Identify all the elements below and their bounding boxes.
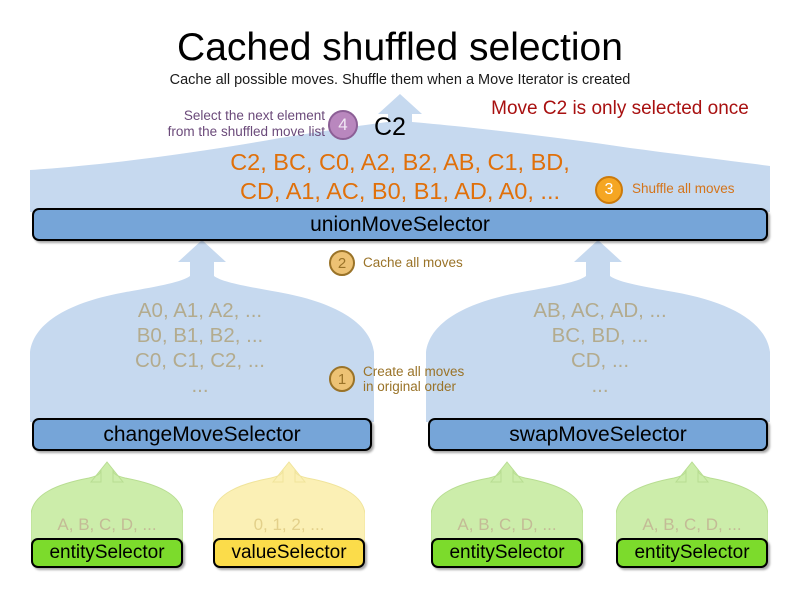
- node-entity-selector-1[interactable]: entitySelector: [31, 538, 183, 568]
- change-move-line: ...: [40, 373, 360, 398]
- step-badge-2: 2: [329, 250, 355, 276]
- step-1-label-line-2: in original order: [363, 379, 464, 394]
- step-badge-3: 3: [595, 176, 623, 204]
- selected-move-label: C2: [374, 113, 406, 142]
- diagram-canvas: Cached shuffled selection Cache all poss…: [0, 0, 800, 600]
- change-move-line: B0, B1, B2, ...: [40, 323, 360, 348]
- step-1-label-line-1: Create all moves: [363, 364, 464, 379]
- node-value-selector-1[interactable]: valueSelector: [213, 538, 365, 568]
- node-entity-selector-2[interactable]: entitySelector: [431, 538, 583, 568]
- annotation-select-line-2: from the shuffled move list: [35, 124, 325, 140]
- annotation-select-line-1: Select the next element: [35, 108, 325, 124]
- step-badge-4: 4: [328, 110, 358, 140]
- step-1-label: Create all moves in original order: [363, 364, 464, 394]
- node-entity-selector-3[interactable]: entitySelector: [616, 538, 768, 568]
- change-move-line: C0, C1, C2, ...: [40, 348, 360, 373]
- change-move-line: A0, A1, A2, ...: [40, 298, 360, 323]
- swap-move-line: CD, ...: [440, 348, 760, 373]
- annotation-move-selected-once: Move C2 is only selected once: [455, 98, 785, 120]
- page-title: Cached shuffled selection: [0, 26, 800, 70]
- entity-selector-2-values: A, B, C, D, ...: [431, 515, 583, 535]
- entity-selector-1-values: A, B, C, D, ...: [31, 515, 183, 535]
- step-badge-1: 1: [329, 366, 355, 392]
- node-change-move-selector[interactable]: changeMoveSelector: [32, 418, 372, 451]
- swap-move-line: AB, AC, AD, ...: [440, 298, 760, 323]
- node-swap-move-selector[interactable]: swapMoveSelector: [428, 418, 768, 451]
- swap-move-list: AB, AC, AD, ... BC, BD, ... CD, ... ...: [440, 298, 760, 398]
- step-3-label: Shuffle all moves: [632, 181, 735, 196]
- change-move-list: A0, A1, A2, ... B0, B1, B2, ... C0, C1, …: [40, 298, 360, 398]
- value-selector-1-values: 0, 1, 2, ...: [213, 515, 365, 535]
- swap-move-line: ...: [440, 373, 760, 398]
- annotation-select-next-element: Select the next element from the shuffle…: [35, 108, 325, 140]
- node-union-move-selector[interactable]: unionMoveSelector: [32, 208, 768, 241]
- entity-selector-3-values: A, B, C, D, ...: [616, 515, 768, 535]
- swap-move-line: BC, BD, ...: [440, 323, 760, 348]
- union-move-line: C2, BC, C0, A2, B2, AB, C1, BD,: [40, 148, 760, 177]
- step-2-label: Cache all moves: [363, 255, 463, 270]
- page-subtitle: Cache all possible moves. Shuffle them w…: [0, 72, 800, 88]
- union-shuffled-move-list: C2, BC, C0, A2, B2, AB, C1, BD, CD, A1, …: [40, 148, 760, 205]
